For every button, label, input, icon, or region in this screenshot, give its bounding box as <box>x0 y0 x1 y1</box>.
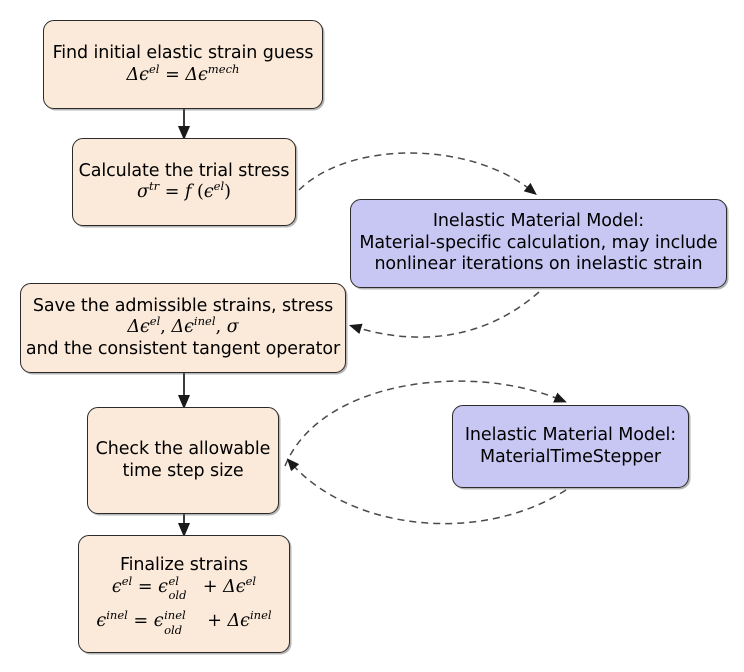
material-time-stepper-line1: Inelastic Material Model: <box>465 425 676 446</box>
check-timestep-line2: time step size <box>122 461 243 482</box>
trial-stress-line1: Calculate the trial stress <box>79 161 290 182</box>
node-check-timestep[interactable]: Check the allowable time step size <box>87 407 279 514</box>
material-model-calc-line1: Inelastic Material Model: <box>433 211 644 232</box>
finalize-strains-equation-inelastic: ϵinel = ϵinelold+ Δϵinel <box>96 611 271 632</box>
save-admissible-line3: and the consistent tangent operator <box>26 339 340 360</box>
finalize-strains-equation-elastic: ϵel = ϵelold+ Δϵel <box>112 577 256 598</box>
node-material-model-calc[interactable]: Inelastic Material Model: Material-speci… <box>350 199 727 288</box>
node-finalize-strains[interactable]: Finalize strains ϵel = ϵelold+ Δϵel ϵine… <box>78 535 290 653</box>
node-save-admissible[interactable]: Save the admissible strains, stress Δϵel… <box>20 283 346 373</box>
material-time-stepper-line2: MaterialTimeStepper <box>480 447 661 468</box>
initial-guess-line1: Find initial elastic strain guess <box>53 43 314 64</box>
check-timestep-line1: Check the allowable <box>96 439 271 460</box>
save-admissible-equation: Δϵel, Δϵinel, σ <box>127 317 238 338</box>
edge-model-to-save <box>355 292 539 337</box>
initial-guess-equation: Δϵel = Δϵmech <box>127 65 240 86</box>
node-material-time-stepper[interactable]: Inelastic Material Model: MaterialTimeSt… <box>452 405 689 488</box>
finalize-strains-line1: Finalize strains <box>120 555 248 576</box>
node-trial-stress[interactable]: Calculate the trial stress σtr = f (ϵel) <box>72 138 296 226</box>
material-model-calc-line3: nonlinear iterations on inelastic strain <box>374 254 702 275</box>
node-initial-guess[interactable]: Find initial elastic strain guess Δϵel =… <box>43 20 323 109</box>
material-model-calc-line2: Material-specific calculation, may inclu… <box>359 233 717 254</box>
flowchart-canvas: Find initial elastic strain guess Δϵel =… <box>0 0 744 672</box>
trial-stress-equation: σtr = f (ϵel) <box>137 182 231 203</box>
edge-trial-to-model <box>299 153 532 191</box>
save-admissible-line1: Save the admissible strains, stress <box>33 296 333 317</box>
